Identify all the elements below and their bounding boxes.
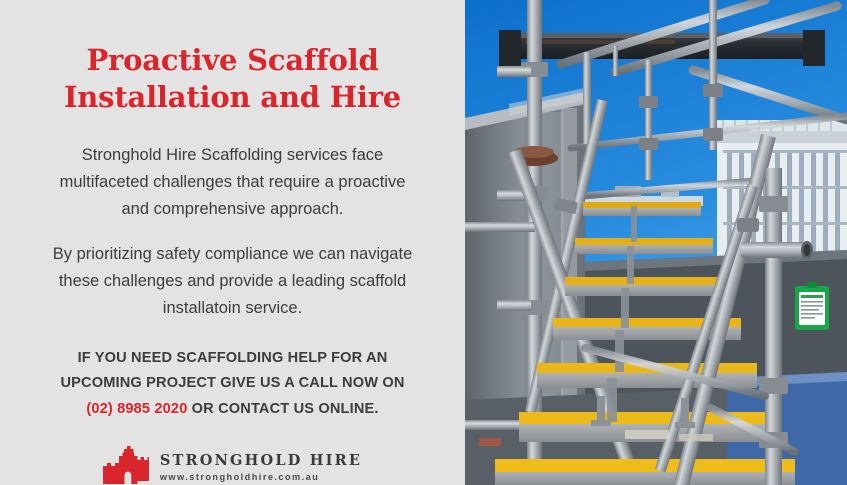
scaffold-stair-photo xyxy=(465,0,847,485)
intro-paragraph: Stronghold Hire Scaffolding services fac… xyxy=(50,142,415,222)
copy-panel: Proactive Scaffold Installation and Hire… xyxy=(0,0,465,485)
cta-line-1: IF YOU NEED SCAFFOLDING HELP FOR AN xyxy=(78,350,388,366)
cta-line-3-suffix: OR CONTACT US ONLINE. xyxy=(187,401,378,417)
cta-line-2: UPCOMING PROJECT GIVE US A CALL NOW ON xyxy=(60,375,404,391)
logo[interactable]: STRONGHOLD HIRE www.strongholdhire.com.a… xyxy=(103,446,362,485)
phone-number[interactable]: (02) 8985 2020 xyxy=(86,401,187,417)
headline-line-1: Proactive Scaffold xyxy=(86,43,378,77)
promo-banner: Proactive Scaffold Installation and Hire… xyxy=(0,0,847,485)
castle-icon xyxy=(103,446,149,485)
call-to-action: IF YOU NEED SCAFFOLDING HELP FOR AN UPCO… xyxy=(60,346,404,423)
logo-website-url: www.strongholdhire.com.au xyxy=(160,472,362,483)
headline-line-2: Installation and Hire xyxy=(64,80,401,114)
logo-wordmark: STRONGHOLD HIRE www.strongholdhire.com.a… xyxy=(160,453,362,482)
page-title: Proactive Scaffold Installation and Hire xyxy=(64,42,401,116)
secondary-paragraph: By prioritizing safety compliance we can… xyxy=(50,241,415,321)
logo-company-name: STRONGHOLD HIRE xyxy=(160,453,362,470)
